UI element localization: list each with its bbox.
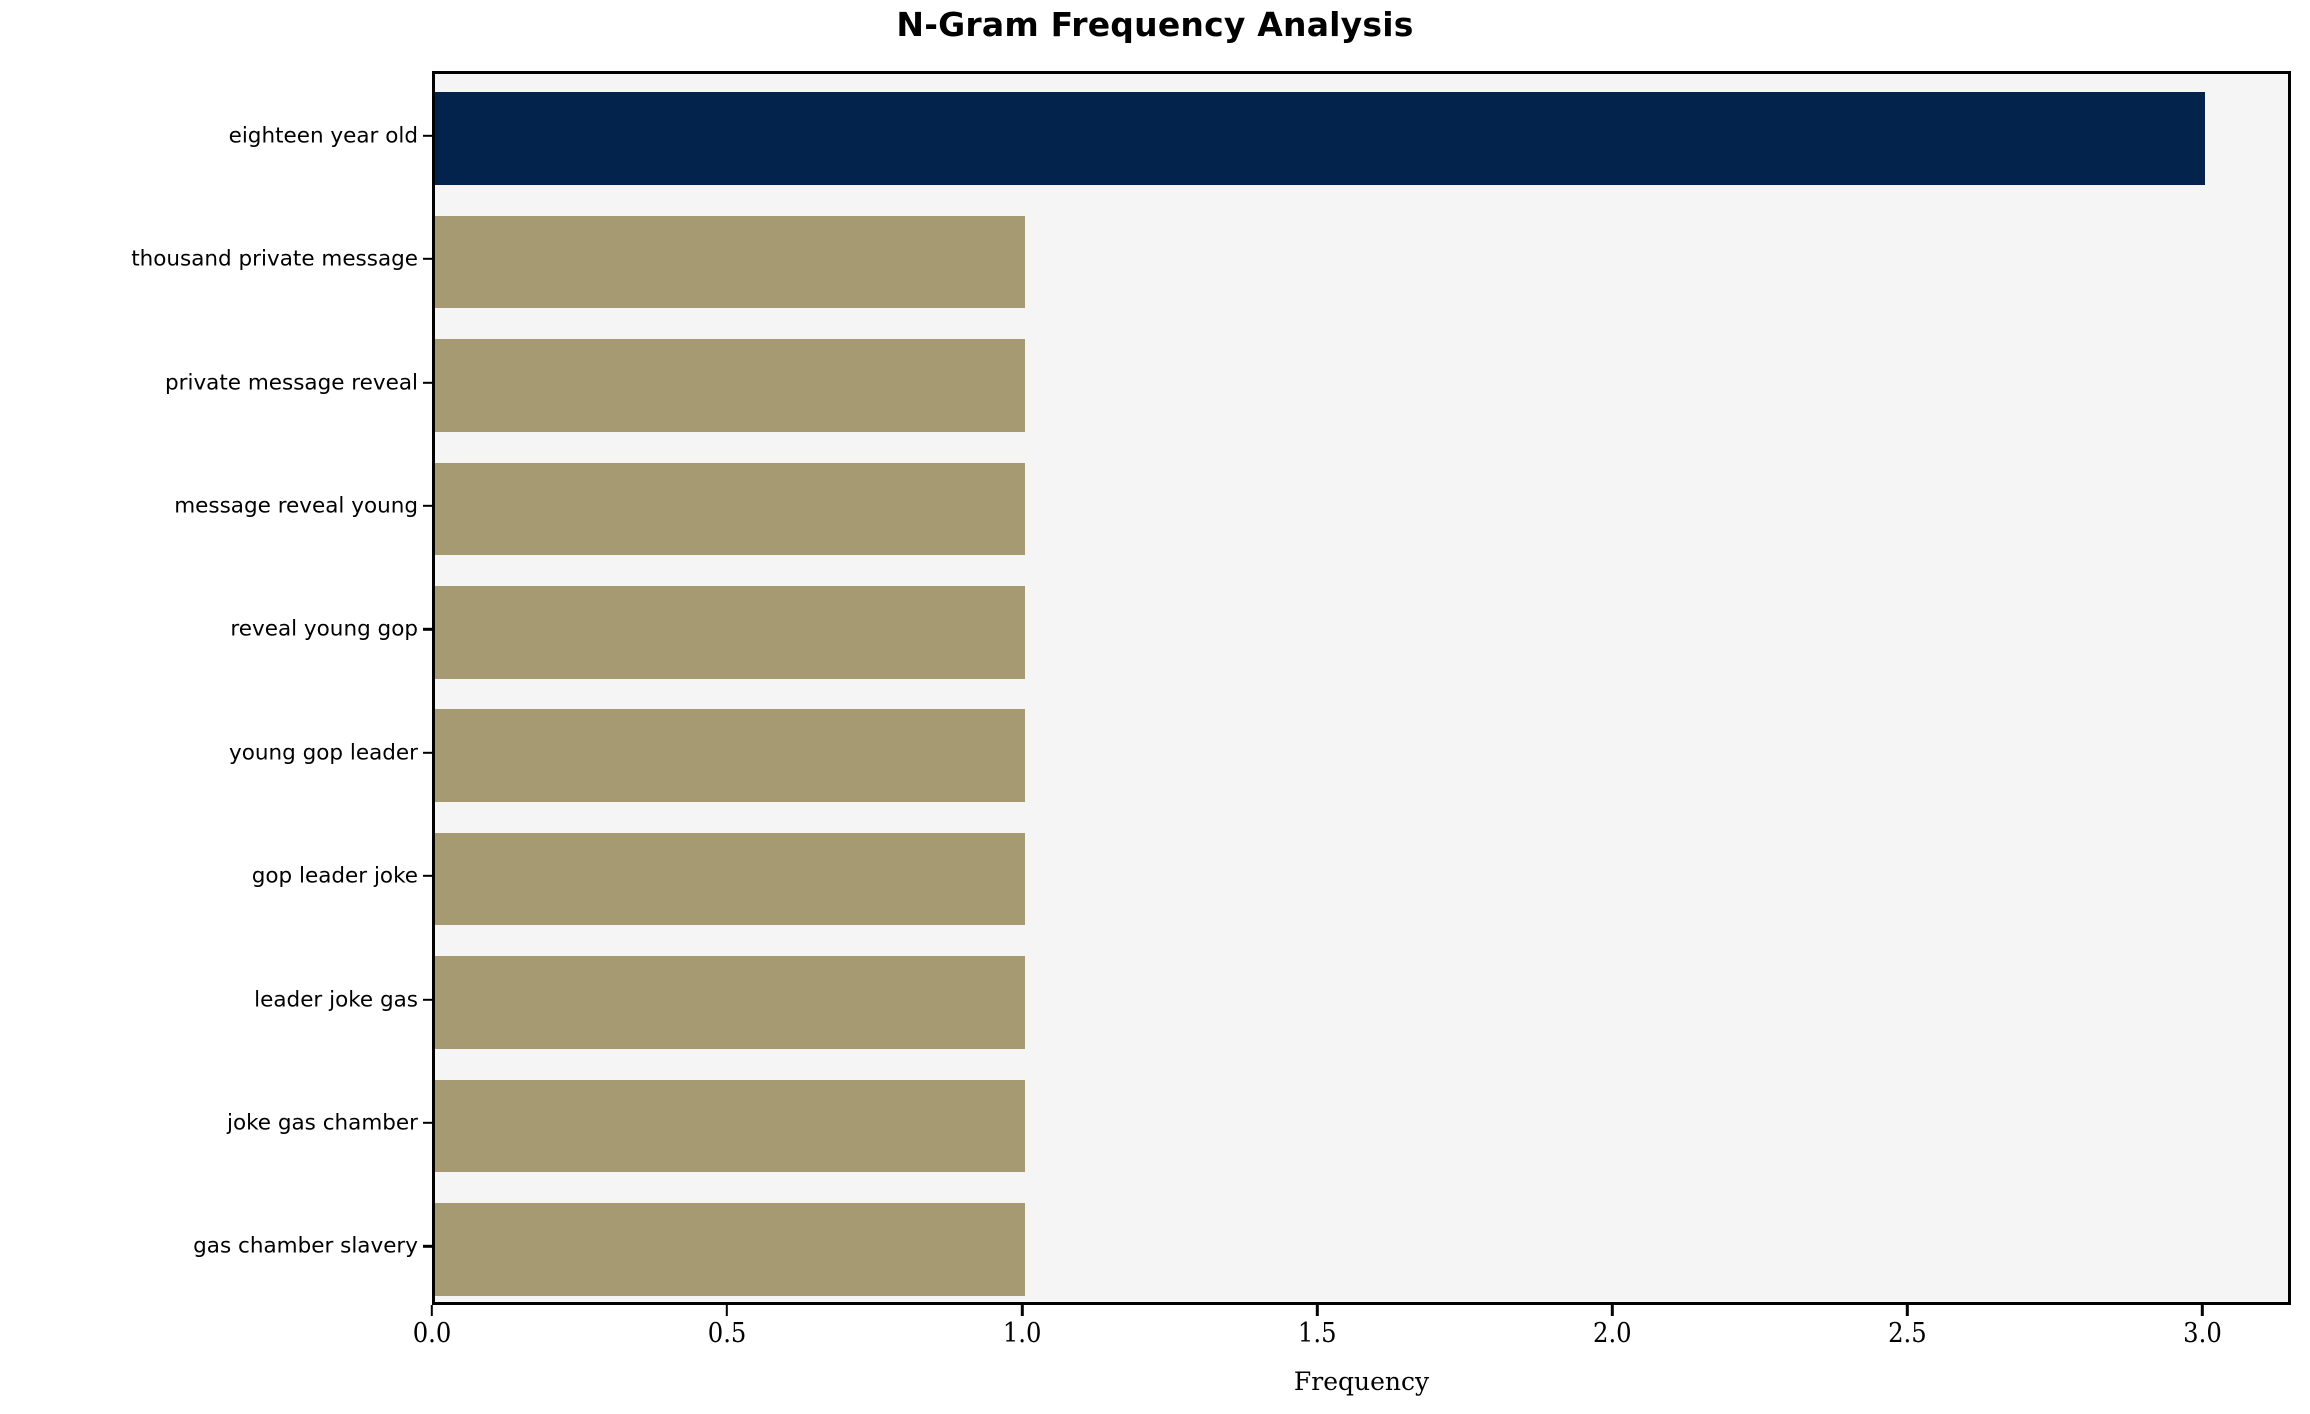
x-tick-label-4: 2.0 [1593, 1318, 1632, 1349]
x-tick-mark-2 [1021, 1305, 1023, 1316]
x-tick-label-5: 2.5 [1888, 1318, 1927, 1349]
x-tick-label-2: 1.0 [1003, 1318, 1042, 1349]
x-tick-mark-0 [431, 1305, 433, 1316]
x-tick-label-1: 0.5 [708, 1318, 747, 1349]
x-tick-mark-6 [2201, 1305, 2203, 1316]
x-tick-label-3: 1.5 [1298, 1318, 1337, 1349]
x-tick-mark-1 [726, 1305, 728, 1316]
x-axis-ticks: 0.00.51.01.52.02.53.0 [0, 0, 2310, 1414]
x-tick-label-6: 3.0 [2183, 1318, 2222, 1349]
x-tick-label-0: 0.0 [413, 1318, 452, 1349]
x-axis-title: Frequency [432, 1367, 2291, 1396]
x-tick-mark-5 [1906, 1305, 1908, 1316]
x-tick-mark-3 [1316, 1305, 1318, 1316]
x-tick-mark-4 [1611, 1305, 1613, 1316]
